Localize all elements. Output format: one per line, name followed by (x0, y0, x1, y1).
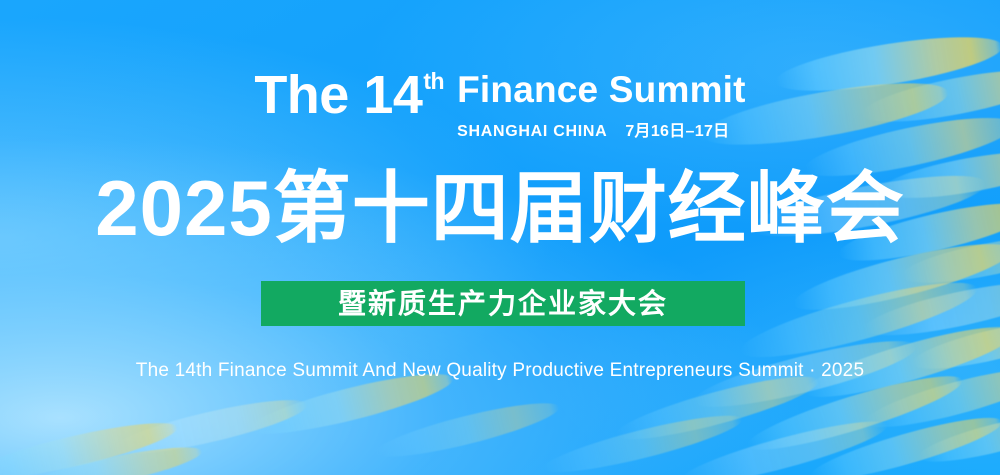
subtitle-banner-text: 暨新质生产力企业家大会 (338, 290, 668, 318)
event-banner: The 14th Finance Summit SHANGHAI CHINA 7… (0, 0, 1000, 475)
event-date: 7月16日–17日 (625, 117, 729, 141)
headline-row: The 14th Finance Summit SHANGHAI CHINA 7… (0, 68, 1000, 141)
page-title: 2025第十四届财经峰会 (0, 169, 1000, 247)
subtitle-banner: 暨新质生产力企业家大会 (261, 281, 745, 326)
event-meta-row: SHANGHAI CHINA 7月16日–17日 (457, 117, 729, 141)
footer-tagline: The 14th Finance Summit And New Quality … (0, 360, 1000, 382)
edition-ordinal-suffix: th (423, 70, 444, 93)
edition-heading: The 14th (254, 68, 443, 122)
edition-prefix: The 14 (254, 68, 422, 122)
event-name-heading: Finance Summit (457, 71, 746, 108)
headline-right-stack: Finance Summit SHANGHAI CHINA 7月16日–17日 (457, 68, 746, 141)
event-location: SHANGHAI CHINA (457, 123, 607, 141)
